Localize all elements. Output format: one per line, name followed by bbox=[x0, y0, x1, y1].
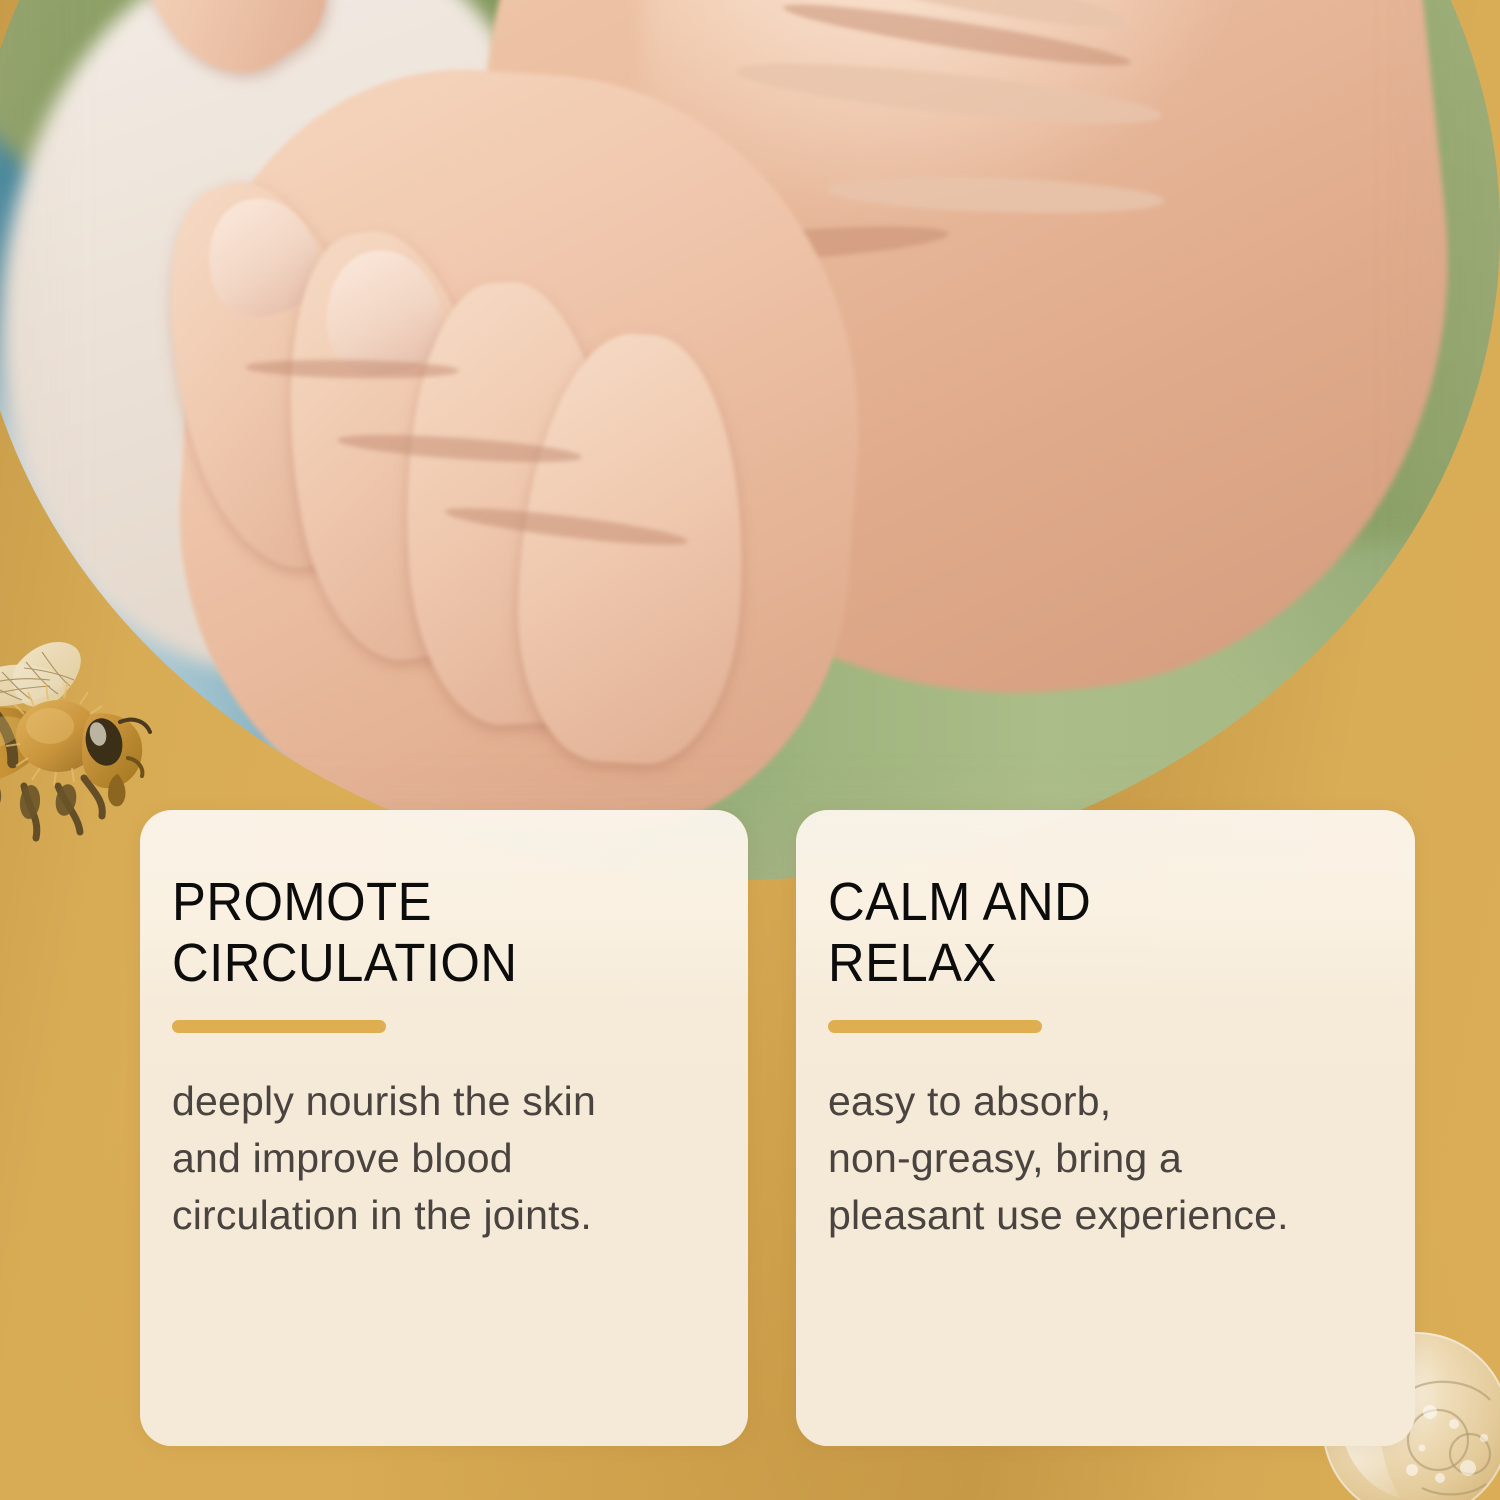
hero-photo-hands bbox=[0, 0, 1500, 880]
product-feature-poster: PROMOTE CIRCULATION deeply nourish the s… bbox=[0, 0, 1500, 1500]
feature-card-calm-and-relax: CALM AND RELAX easy to absorb, non-greas… bbox=[796, 810, 1415, 1446]
card-description: easy to absorb, non-greasy, bring a plea… bbox=[828, 1073, 1415, 1244]
card-title: CALM AND RELAX bbox=[828, 872, 1380, 994]
card-description: deeply nourish the skin and improve bloo… bbox=[172, 1073, 748, 1244]
accent-bar bbox=[172, 1020, 386, 1033]
feature-card-promote-circulation: PROMOTE CIRCULATION deeply nourish the s… bbox=[140, 810, 748, 1446]
card-title: PROMOTE CIRCULATION bbox=[172, 872, 713, 994]
accent-bar bbox=[828, 1020, 1042, 1033]
photo-vignette bbox=[0, 0, 1500, 880]
